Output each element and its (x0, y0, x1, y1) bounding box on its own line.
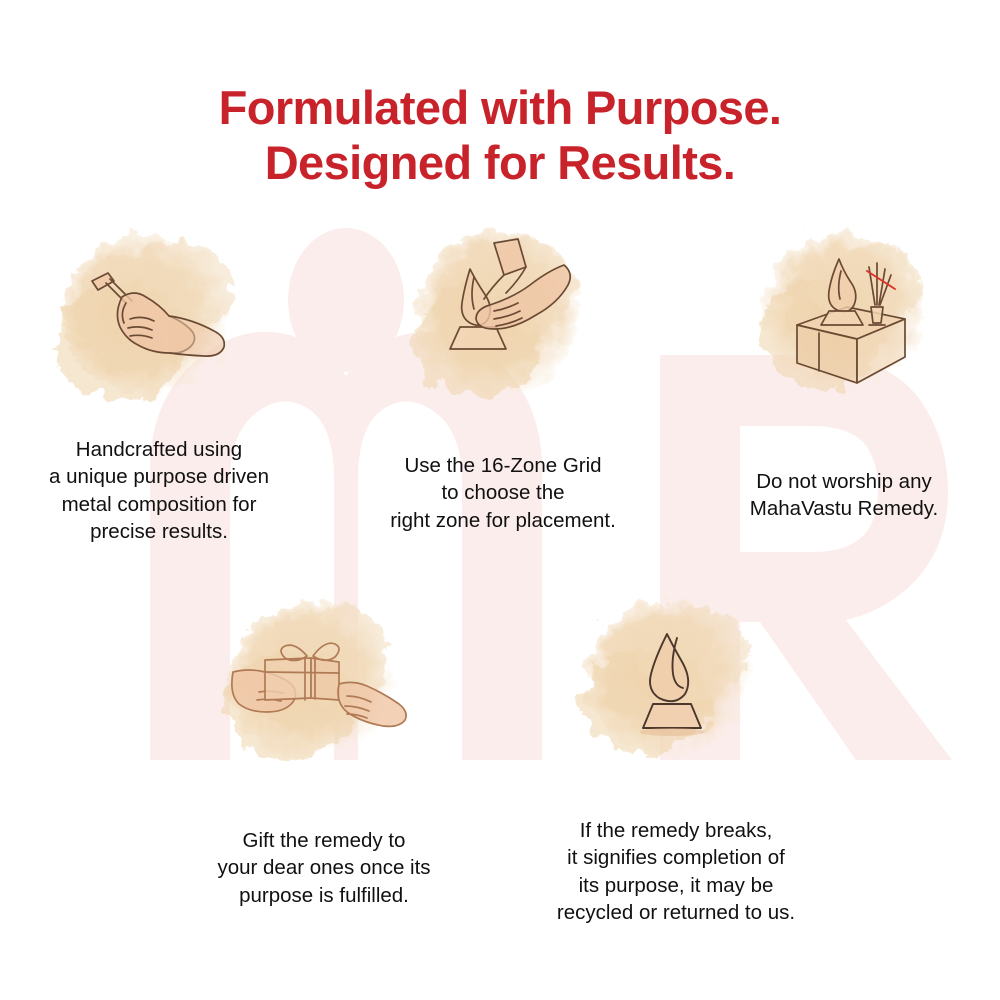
feature-card-16-zone-grid: Use the 16-Zone Grid to choose the right… (344, 215, 662, 545)
feature-row-bottom: Gift the remedy to your dear ones once i… (168, 580, 832, 926)
card-caption: Handcrafted using a unique purpose drive… (49, 436, 269, 545)
illustration-handcrafted (34, 215, 284, 430)
poster-canvas: Formulated with Purpose. Designed for Re… (0, 0, 1000, 1000)
illustration-gift (199, 580, 449, 795)
feature-row-top: Handcrafted using a unique purpose drive… (0, 215, 1000, 545)
card-caption: If the remedy breaks, it signifies compl… (557, 817, 795, 926)
page-title: Formulated with Purpose. Designed for Re… (0, 80, 1000, 191)
card-caption: Do not worship any MahaVastu Remedy. (750, 468, 938, 523)
illustration-placement (378, 215, 628, 430)
illustration-flame-remedy (551, 580, 801, 795)
feature-card-handcrafted: Handcrafted using a unique purpose drive… (0, 215, 318, 545)
card-caption: Gift the remedy to your dear ones once i… (217, 827, 430, 909)
feature-card-gift: Gift the remedy to your dear ones once i… (168, 580, 480, 926)
feature-card-broken-remedy: If the remedy breaks, it signifies compl… (520, 580, 832, 926)
illustration-no-worship (719, 215, 969, 430)
headline-line-1: Formulated with Purpose. (0, 80, 1000, 135)
headline-line-2: Designed for Results. (0, 135, 1000, 190)
feature-card-no-worship: Do not worship any MahaVastu Remedy. (688, 215, 1000, 545)
card-caption: Use the 16-Zone Grid to choose the right… (390, 452, 616, 534)
